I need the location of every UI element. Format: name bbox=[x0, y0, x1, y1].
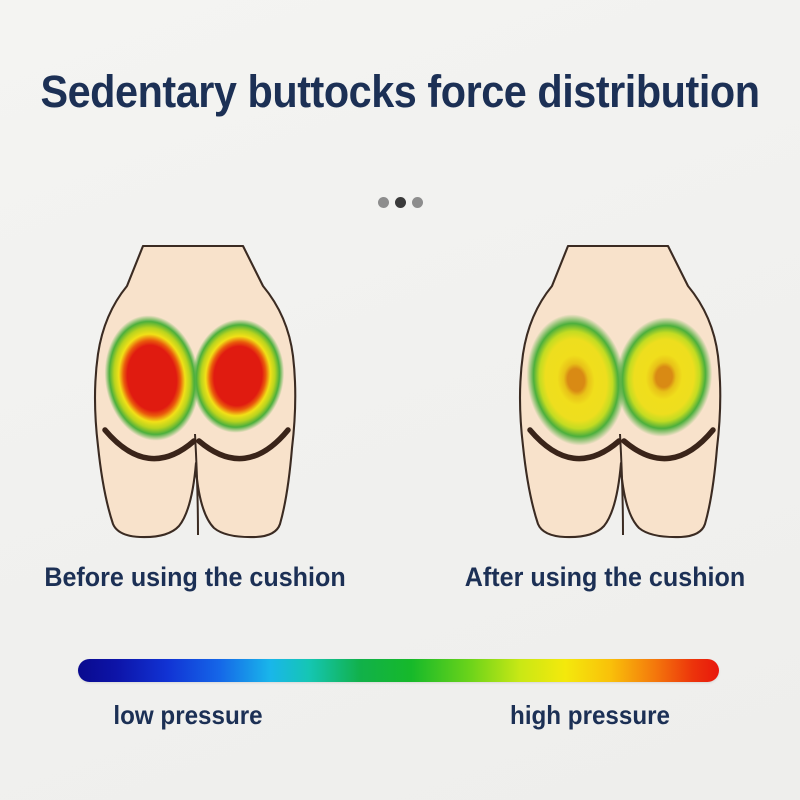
caption-before: Before using the cushion bbox=[14, 562, 377, 593]
legend-low-pressure-label: low pressure bbox=[58, 700, 318, 731]
body-figure-after bbox=[473, 238, 763, 548]
carousel-dot-3[interactable] bbox=[412, 197, 423, 208]
carousel-dot-2[interactable] bbox=[395, 197, 406, 208]
caption-after: After using the cushion bbox=[424, 562, 787, 593]
page-title: Sedentary buttocks force distribution bbox=[32, 66, 768, 118]
panel-after bbox=[473, 238, 763, 548]
pressure-color-scale-bar bbox=[78, 659, 719, 682]
legend-high-pressure-label: high pressure bbox=[460, 700, 720, 731]
body-figure-before bbox=[48, 238, 338, 548]
infographic-root: Sedentary buttocks force distribution bbox=[0, 0, 800, 800]
carousel-dots[interactable] bbox=[0, 197, 800, 208]
panel-before bbox=[48, 238, 338, 548]
carousel-dot-1[interactable] bbox=[378, 197, 389, 208]
comparison-panels bbox=[0, 238, 800, 548]
